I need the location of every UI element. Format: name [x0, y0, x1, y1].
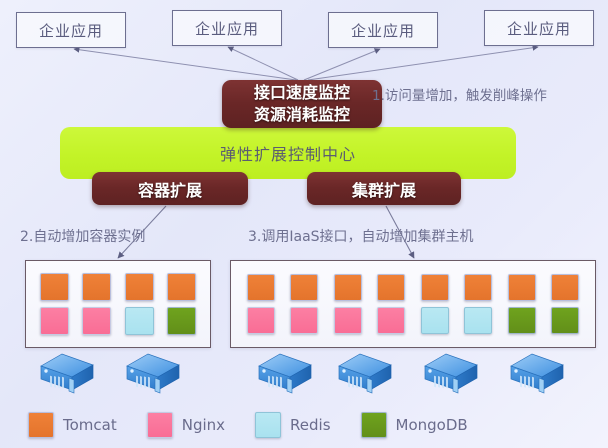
server-icon[interactable]: [38, 352, 96, 394]
server-icon[interactable]: [124, 352, 182, 394]
legend: TomcatNginxRedisMongoDB: [28, 412, 498, 438]
enterprise-app-label: 企业应用: [351, 20, 415, 41]
server-icon[interactable]: [336, 352, 394, 394]
control-center-label: 弹性扩展控制中心: [220, 141, 356, 165]
container-cell-nginx[interactable]: [377, 307, 405, 334]
diagram-canvas: 企业应用 企业应用 企业应用 企业应用 1.访问量增加，触发削峰操作 接口速度监…: [0, 0, 608, 448]
container-cell-nginx[interactable]: [334, 307, 362, 334]
enterprise-app-label: 企业应用: [39, 20, 103, 41]
rack-row: [231, 274, 595, 301]
container-cell-tomcat[interactable]: [377, 274, 405, 301]
container-cell-tomcat[interactable]: [508, 274, 536, 301]
container-cell-tomcat[interactable]: [464, 274, 492, 301]
container-cell-mongodb[interactable]: [508, 307, 536, 334]
legend-label-mongodb: MongoDB: [396, 416, 468, 434]
legend-swatch-nginx: [147, 412, 173, 438]
container-cell-tomcat[interactable]: [334, 274, 362, 301]
monitor-line-2: 资源消耗监控: [254, 104, 350, 126]
container-cell-tomcat[interactable]: [40, 273, 69, 301]
container-cell-tomcat[interactable]: [82, 273, 111, 301]
enterprise-app-label: 企业应用: [195, 18, 259, 39]
monitoring-box[interactable]: 接口速度监控 资源消耗监控: [222, 80, 382, 128]
server-icon[interactable]: [508, 352, 566, 394]
cluster-scale-label: 集群扩展: [352, 177, 416, 201]
container-cell-nginx[interactable]: [290, 307, 318, 334]
legend-item-nginx: Nginx: [147, 412, 225, 438]
enterprise-app-box-4[interactable]: 企业应用: [484, 10, 594, 46]
container-cell-tomcat[interactable]: [247, 274, 275, 301]
container-cell-tomcat[interactable]: [290, 274, 318, 301]
container-cell-tomcat[interactable]: [421, 274, 449, 301]
rack-row: [26, 307, 210, 335]
enterprise-app-box-2[interactable]: 企业应用: [172, 10, 282, 46]
rack-row: [231, 307, 595, 334]
container-cell-redis[interactable]: [125, 307, 154, 335]
legend-swatch-mongodb: [361, 412, 387, 438]
server-icon[interactable]: [256, 352, 314, 394]
cluster-scale-button[interactable]: 集群扩展: [307, 172, 461, 205]
right-container-rack[interactable]: [230, 260, 596, 348]
container-cell-redis[interactable]: [464, 307, 492, 334]
legend-label-tomcat: Tomcat: [63, 416, 117, 434]
note-step-1: 1.访问量增加，触发削峰操作: [372, 84, 547, 104]
server-icon[interactable]: [422, 352, 480, 394]
container-cell-nginx[interactable]: [247, 307, 275, 334]
enterprise-app-box-1[interactable]: 企业应用: [16, 12, 126, 48]
rack-row: [26, 273, 210, 301]
legend-label-redis: Redis: [290, 416, 330, 434]
legend-item-mongodb: MongoDB: [361, 412, 468, 438]
legend-swatch-redis: [255, 412, 281, 438]
container-cell-tomcat[interactable]: [167, 273, 196, 301]
container-cell-redis[interactable]: [421, 307, 449, 334]
container-cell-nginx[interactable]: [40, 307, 69, 335]
container-cell-tomcat[interactable]: [125, 273, 154, 301]
enterprise-app-box-3[interactable]: 企业应用: [328, 12, 438, 48]
legend-swatch-tomcat: [28, 412, 54, 438]
enterprise-app-label: 企业应用: [507, 18, 571, 39]
container-cell-nginx[interactable]: [82, 307, 111, 335]
note-step-3: 3.调用IaaS接口，自动增加集群主机: [248, 226, 474, 246]
container-scale-label: 容器扩展: [138, 177, 202, 201]
legend-item-redis: Redis: [255, 412, 330, 438]
legend-item-tomcat: Tomcat: [28, 412, 117, 438]
container-cell-mongodb[interactable]: [167, 307, 196, 335]
left-container-rack[interactable]: [25, 260, 211, 348]
container-cell-mongodb[interactable]: [551, 307, 579, 334]
container-cell-tomcat[interactable]: [551, 274, 579, 301]
container-scale-button[interactable]: 容器扩展: [92, 172, 248, 205]
note-step-2: 2.自动增加容器实例: [20, 226, 145, 246]
legend-label-nginx: Nginx: [182, 416, 225, 434]
monitor-line-1: 接口速度监控: [254, 82, 350, 104]
